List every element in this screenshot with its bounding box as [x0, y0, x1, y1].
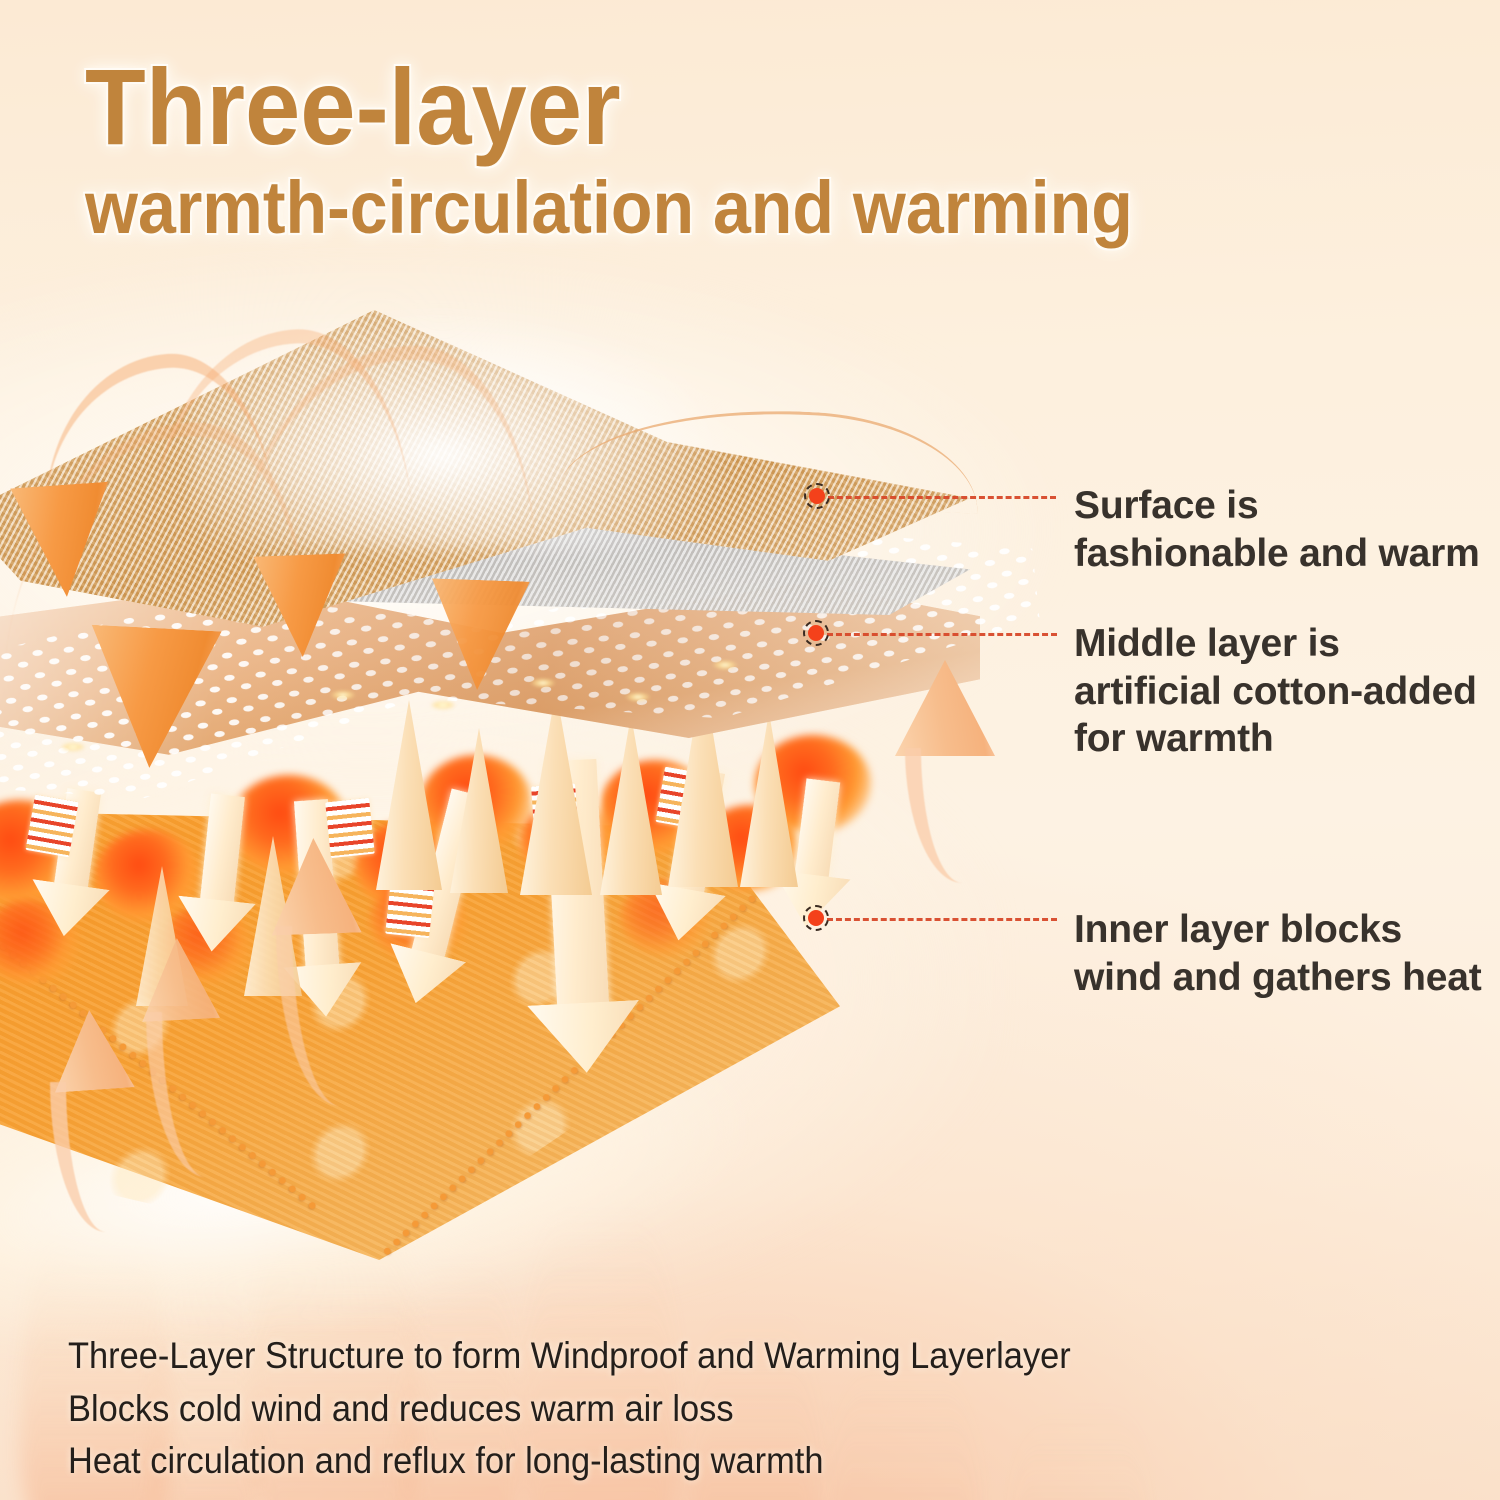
caption-line-2: Blocks cold wind and reduces warm air lo…	[68, 1383, 1277, 1436]
infographic-poster: Surface is fashionable and warm Middle l…	[0, 0, 1500, 1500]
headline-line-1: Three-layer	[85, 52, 1133, 162]
marker-dot-surface	[809, 488, 825, 504]
cold-air-arrow-3	[253, 553, 349, 658]
callout-leader-inner	[827, 918, 1057, 921]
warm-air-arrow-left-3	[268, 836, 361, 935]
callout-marker-inner[interactable]	[803, 905, 829, 931]
callout-marker-surface[interactable]	[804, 483, 830, 509]
callout-leader-surface	[828, 496, 1056, 499]
cold-air-arrow-2	[84, 625, 221, 772]
callout-text-inner: Inner layer blocks wind and gathers heat	[1074, 906, 1482, 1001]
callout-marker-middle[interactable]	[803, 620, 829, 646]
callout-middle-line-2: artificial cotton-added	[1074, 668, 1477, 716]
caption-line-3: Heat circulation and reflux for long-las…	[68, 1435, 1277, 1488]
callout-surface-line-1: Surface is	[1074, 482, 1480, 530]
caption-line-1: Three-Layer Structure to form Windproof …	[68, 1330, 1277, 1383]
callout-text-surface: Surface is fashionable and warm	[1074, 482, 1480, 577]
callout-leader-middle	[827, 633, 1057, 636]
callout-middle-line-1: Middle layer is	[1074, 620, 1477, 668]
warm-air-arrow-left-1	[49, 1007, 134, 1092]
warm-air-arrow-right	[895, 660, 995, 756]
footer-caption: Three-Layer Structure to form Windproof …	[68, 1330, 1277, 1488]
cold-air-arrow-1	[10, 482, 116, 601]
marker-dot-middle	[808, 625, 824, 641]
warm-air-arrow-left-2	[138, 936, 220, 1022]
marker-dot-inner	[808, 910, 824, 926]
headline: Three-layer warmth-circulation and warmi…	[85, 52, 1224, 248]
callout-inner-line-2: wind and gathers heat	[1074, 954, 1482, 1002]
headline-line-2: warmth-circulation and warming	[85, 168, 1133, 248]
callout-text-middle: Middle layer is artificial cotton-added …	[1074, 620, 1477, 763]
callout-middle-line-3: for warmth	[1074, 715, 1477, 763]
cold-air-arrow-4	[428, 578, 530, 691]
callout-inner-line-1: Inner layer blocks	[1074, 906, 1482, 954]
callout-surface-line-2: fashionable and warm	[1074, 530, 1480, 578]
